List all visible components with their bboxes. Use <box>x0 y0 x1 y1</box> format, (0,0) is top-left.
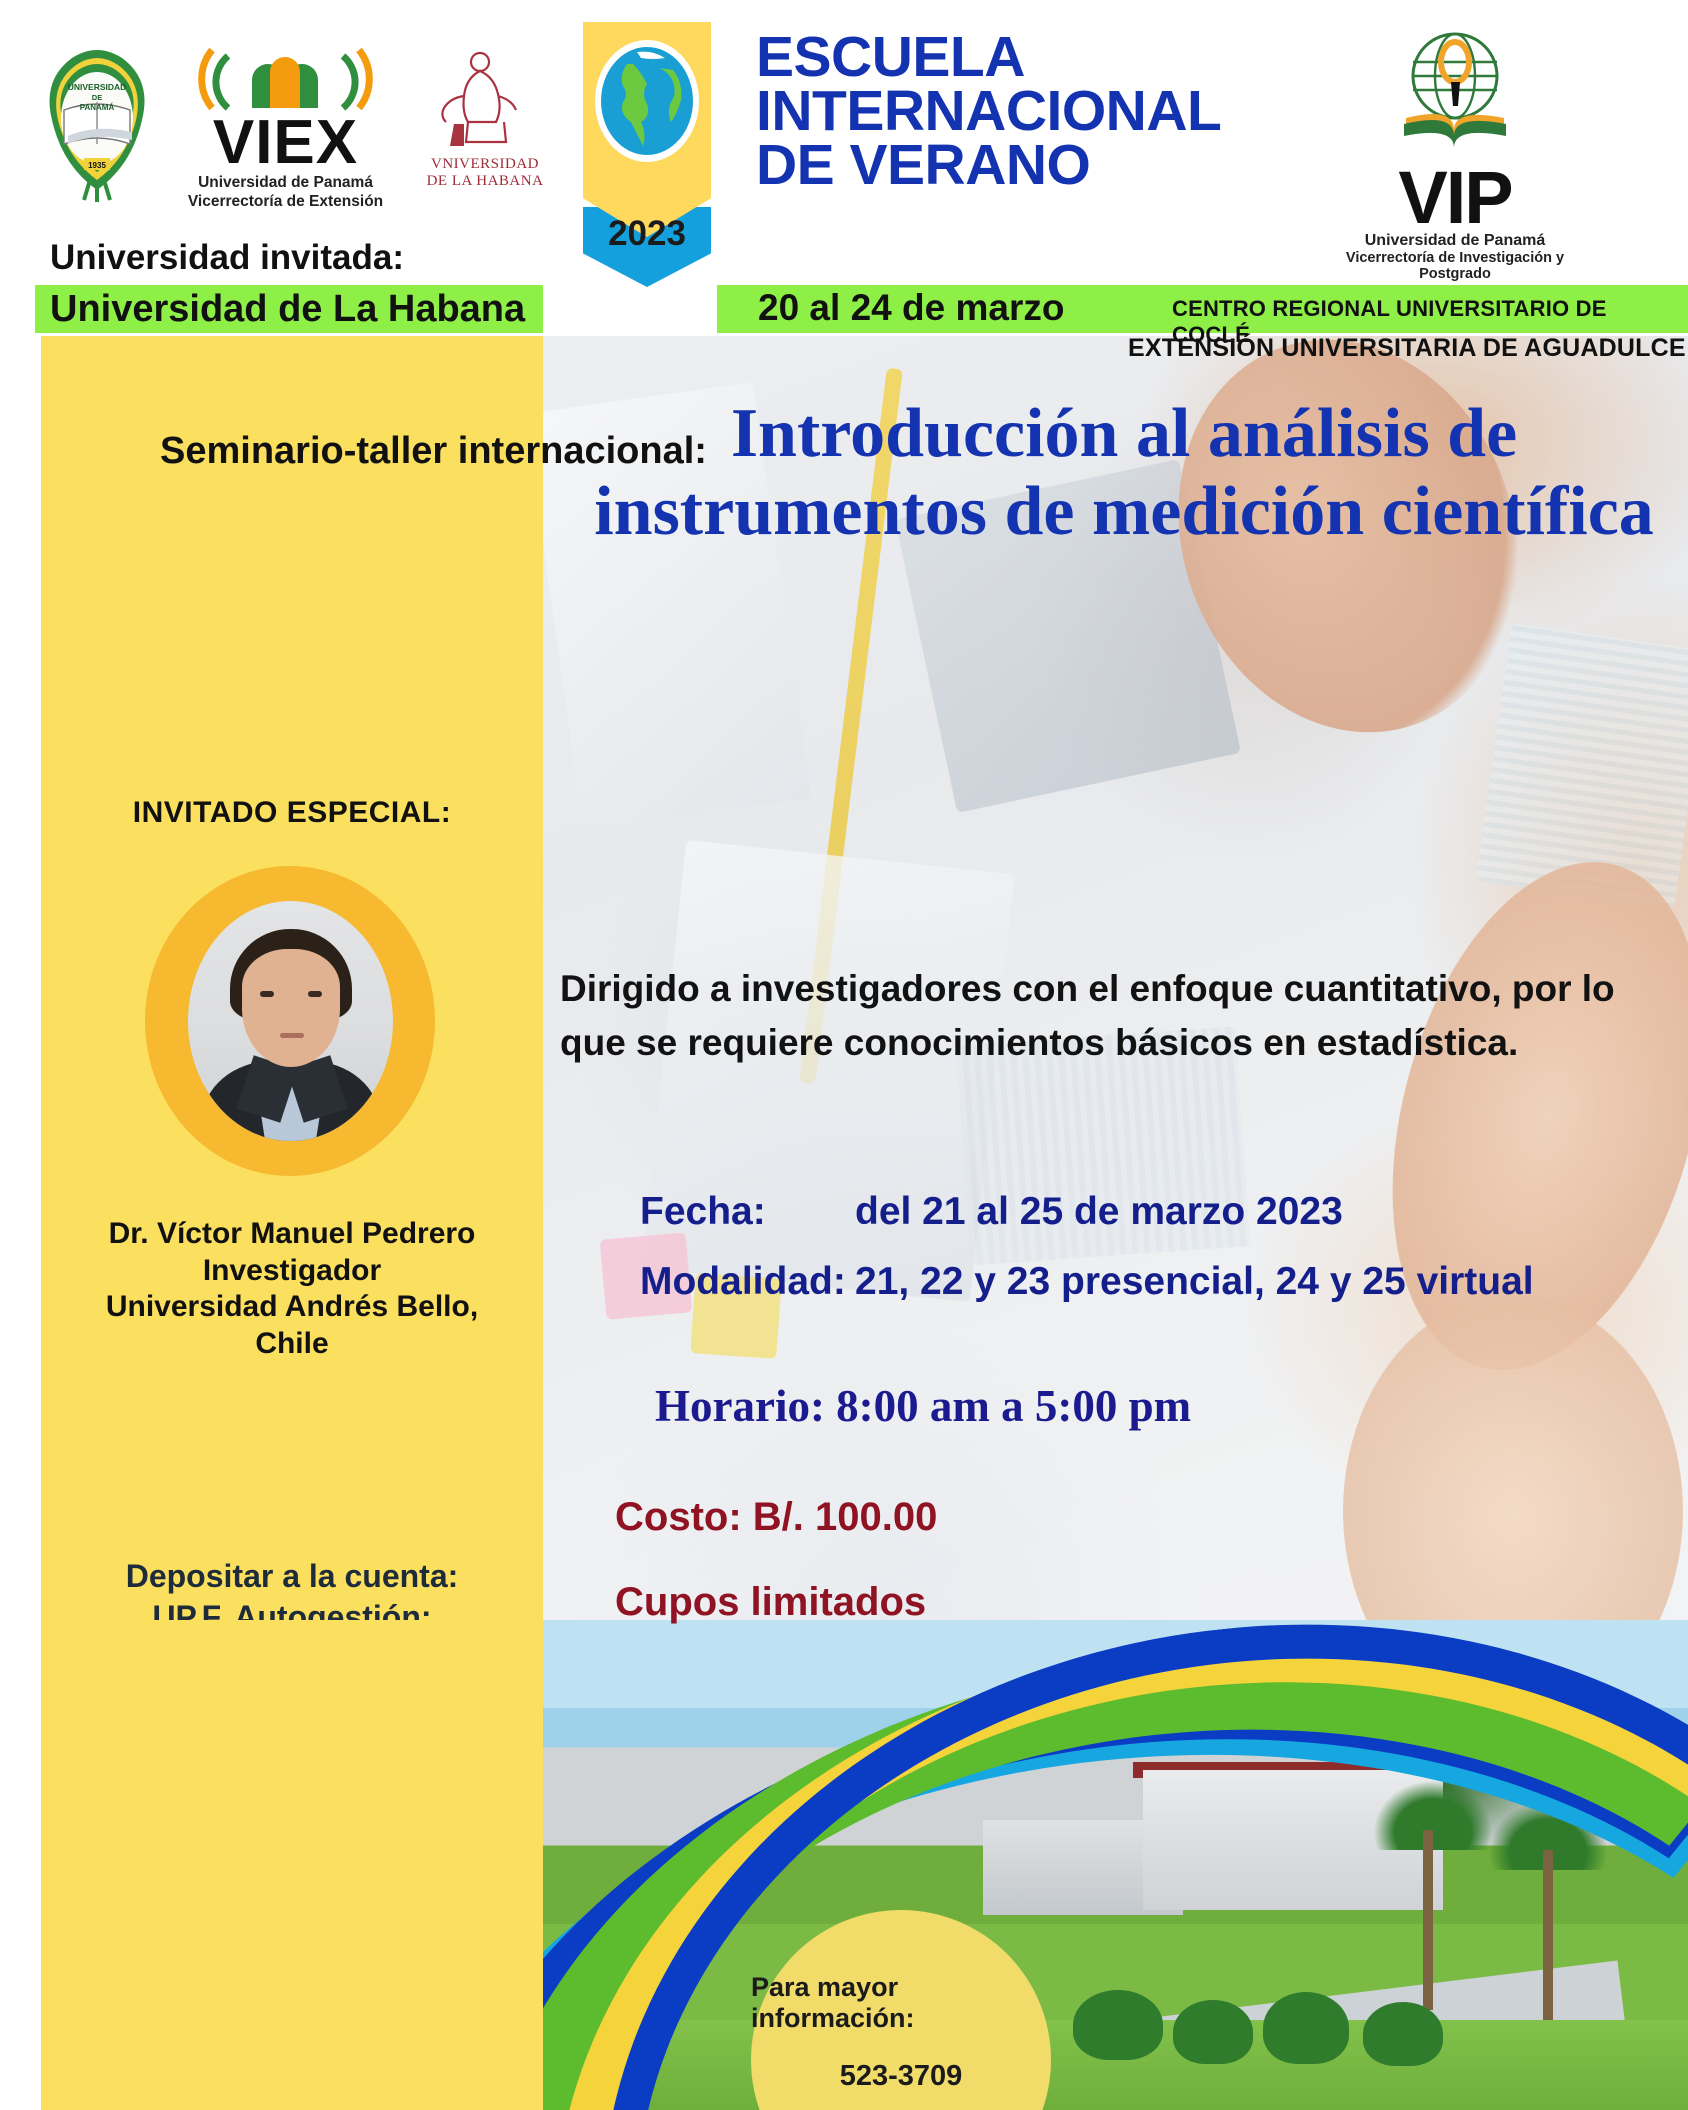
viex-subtitle-line1: Universidad de Panamá <box>178 173 393 192</box>
avatar-eye-right <box>308 991 322 997</box>
invited-university-name: Universidad de La Habana <box>50 288 525 331</box>
speaker-role: Investigador <box>49 1253 535 1290</box>
svg-text:PANAMÁ: PANAMÁ <box>80 103 115 112</box>
special-guest-label: INVITADO ESPECIAL: <box>41 796 543 830</box>
avatar-face <box>242 949 340 1067</box>
svg-text:UNIVERSIDAD: UNIVERSIDAD <box>68 82 127 92</box>
schedule-text: Horario: 8:00 am a 5:00 pm <box>655 1380 1191 1432</box>
modalidad-value: 21, 22 y 23 presencial, 24 y 25 virtual <box>855 1260 1534 1304</box>
university-of-panama-crest-icon: UNIVERSIDAD DE PANAMÁ 1935 <box>32 40 162 205</box>
more-info-phone: 523-3709 <box>840 2060 963 2093</box>
speaker-country: Chile <box>49 1326 535 1363</box>
cost-text: Costo: B/. 100.00 <box>615 1495 937 1540</box>
event-info-rows: Fecha: del 21 al 25 de marzo 2023 Modali… <box>640 1190 1688 1330</box>
limited-seats-text: Cupos limitados <box>615 1580 926 1625</box>
more-info-label: Para mayor información: <box>751 1972 1051 2034</box>
speaker-name: Dr. Víctor Manuel Pedrero <box>49 1216 535 1253</box>
vip-logo: VIP Universidad de Panamá Vicerrectoría … <box>1320 30 1590 282</box>
avatar-photo <box>188 901 393 1141</box>
viex-people-arcs-icon <box>178 42 393 114</box>
university-extension-label: EXTENSIÓN UNIVERSITARIA DE AGUADULCE <box>1128 334 1686 363</box>
seminar-kicker: Seminario-taller internacional: <box>160 430 707 473</box>
globe-americas-icon <box>595 40 699 162</box>
sidebar-bottom-fill <box>41 1620 543 2110</box>
vip-subtitle-line1: Universidad de Panamá <box>1320 232 1590 250</box>
event-title-line-1: ESCUELA <box>756 30 1226 84</box>
audience-description: Dirigido a investigadores con el enfoque… <box>560 962 1685 1069</box>
event-dates-label: 20 al 24 de marzo <box>758 287 1064 329</box>
event-title-line-3: DE VERANO <box>756 138 1226 192</box>
avatar-mouth <box>280 1033 304 1038</box>
info-row-modalidad: Modalidad: 21, 22 y 23 presencial, 24 y … <box>640 1260 1688 1304</box>
poster-root: UNIVERSIDAD DE PANAMÁ 1935 <box>0 0 1688 2110</box>
modalidad-label: Modalidad: <box>640 1260 855 1304</box>
invited-university-label: Universidad invitada: <box>50 238 404 278</box>
footer-graphic: Para mayor información: 523-3709 <box>543 1620 1688 2110</box>
alma-mater-seal-icon <box>410 46 560 156</box>
svg-text:DE: DE <box>92 93 102 102</box>
viex-logo: VIEX Universidad de Panamá Vicerrectoría… <box>178 42 393 212</box>
viex-wordmark: VIEX <box>178 114 393 173</box>
summer-school-ribbon: 2023 <box>583 22 711 287</box>
fecha-value: del 21 al 25 de marzo 2023 <box>855 1190 1343 1234</box>
speaker-affiliation: Universidad Andrés Bello, <box>49 1289 535 1326</box>
habana-line2: DE LA HABANA <box>410 173 560 190</box>
speaker-portrait-avatar <box>145 866 435 1176</box>
avatar-eye-left <box>260 991 274 997</box>
habana-line1: VNIVERSIDAD <box>410 156 560 173</box>
universidad-de-la-habana-logo: VNIVERSIDAD DE LA HABANA <box>410 46 560 191</box>
ribbon-year-label: 2023 <box>583 214 711 254</box>
event-title: ESCUELA INTERNACIONAL DE VERANO <box>756 30 1226 192</box>
info-row-fecha: Fecha: del 21 al 25 de marzo 2023 <box>640 1190 1688 1234</box>
svg-text:1935: 1935 <box>88 161 106 170</box>
vip-globe-book-magnifier-icon <box>1320 30 1590 165</box>
vip-wordmark: VIP <box>1320 165 1590 232</box>
speaker-details: Dr. Víctor Manuel Pedrero Investigador U… <box>49 1216 535 1362</box>
poster-header: UNIVERSIDAD DE PANAMÁ 1935 <box>0 0 1688 270</box>
page-title: Introducción al análisis de instrumentos… <box>560 395 1688 552</box>
bank-line-1: Depositar a la cuenta: <box>49 1556 535 1597</box>
vip-subtitle-line2: Vicerrectoría de Investigación y Postgra… <box>1320 250 1590 282</box>
event-title-line-2: INTERNACIONAL <box>756 84 1226 138</box>
viex-subtitle-line2: Vicerrectoría de Extensión <box>178 192 393 211</box>
fecha-label: Fecha: <box>640 1190 855 1234</box>
